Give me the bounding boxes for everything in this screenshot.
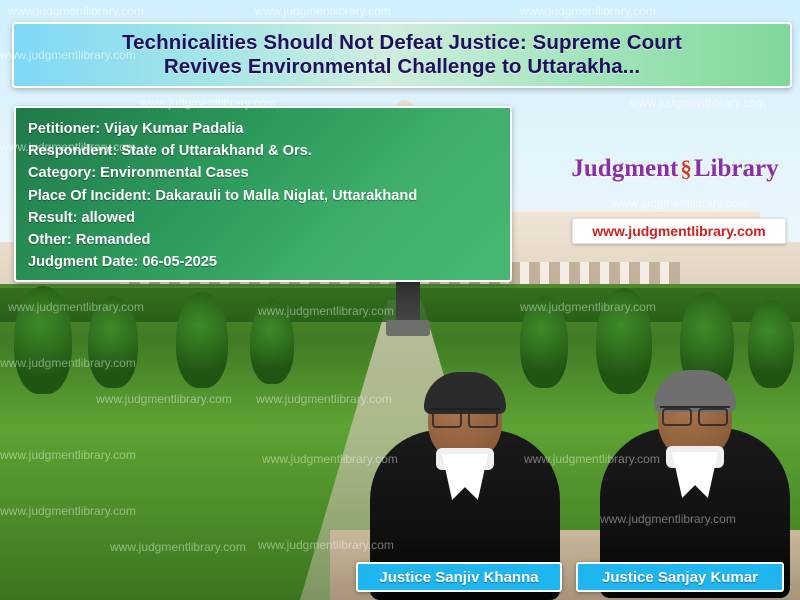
page-title-line-1: Technicalities Should Not Defeat Justice… xyxy=(122,31,682,54)
detail-place-of-incident: Place Of Incident: Dakarauli to Malla Ni… xyxy=(28,185,498,207)
page-title-line-2: Revives Environmental Challenge to Uttar… xyxy=(164,55,640,78)
detail-judgment-date: Judgment Date: 06-05-2025 xyxy=(28,251,498,273)
judge-name-label: Justice Sanjiv Khanna xyxy=(379,569,538,586)
statue-base xyxy=(386,320,430,336)
page-title: Technicalities Should Not Defeat Justice… xyxy=(114,31,690,79)
brand-url-badge: www.judgmentlibrary.com xyxy=(572,218,786,244)
judge-name-tag-1: Justice Sanjiv Khanna xyxy=(356,562,562,592)
judge-name-label: Justice Sanjay Kumar xyxy=(602,569,758,586)
brand-logo: Judgment§Library xyxy=(556,152,794,186)
case-details-panel: Petitioner: Vijay Kumar Padalia Responde… xyxy=(14,106,512,282)
section-symbol-icon: § xyxy=(678,156,694,181)
tree xyxy=(88,296,138,388)
tree xyxy=(250,300,294,384)
glasses-icon xyxy=(430,408,500,426)
brand-name-part1: Judgment xyxy=(571,155,678,182)
detail-respondent: Respondent: State of Uttarakhand & Ors. xyxy=(28,140,498,162)
judgment-info-card: Technicalities Should Not Defeat Justice… xyxy=(0,0,800,600)
judge-name-tag-2: Justice Sanjay Kumar xyxy=(576,562,784,592)
tree xyxy=(176,292,228,388)
detail-petitioner: Petitioner: Vijay Kumar Padalia xyxy=(28,118,498,140)
brand-logo-text: Judgment§Library xyxy=(571,155,778,183)
detail-result: Result: allowed xyxy=(28,207,498,229)
tree xyxy=(14,286,72,394)
headline-banner: Technicalities Should Not Defeat Justice… xyxy=(12,22,792,88)
detail-category: Category: Environmental Cases xyxy=(28,162,498,184)
brand-url-text: www.judgmentlibrary.com xyxy=(592,223,765,239)
detail-other: Other: Remanded xyxy=(28,229,498,251)
glasses-icon xyxy=(660,406,730,424)
brand-name-part2: Library xyxy=(694,155,779,182)
